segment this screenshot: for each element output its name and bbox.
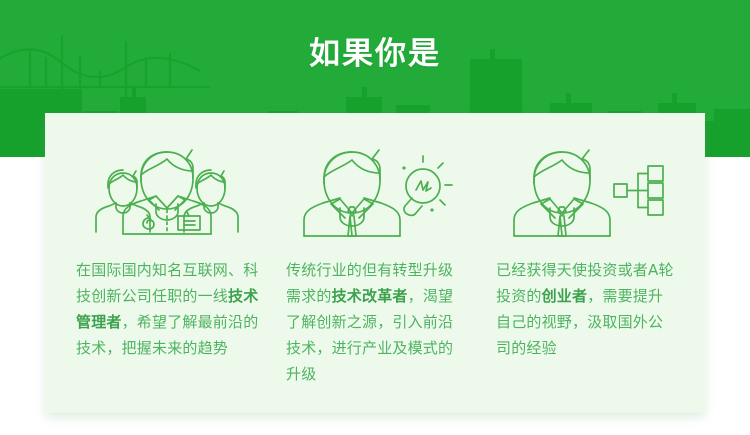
- audience-text-tech-reformer: 传统行业的但有转型升级需求的技术改革者，渴望了解创新之源，引入前沿技术，进行产业…: [282, 257, 468, 387]
- page-title: 如果你是: [0, 32, 750, 76]
- col2-text-bold: 技术改革者: [332, 287, 408, 305]
- audience-card: 在国际国内知名互联网、科技创新公司任职的一线技术管理者，希望了解最前沿的技术，把…: [45, 113, 705, 413]
- team-group-icon: [75, 141, 260, 243]
- col3-text-bold: 创业者: [542, 287, 588, 305]
- audience-text-entrepreneur: 已经获得天使投资或者A轮投资的创业者，需要提升自己的视野，汲取国外公司的经验: [490, 257, 676, 361]
- audience-text-tech-manager: 在国际国内知名互联网、科技创新公司任职的一线技术管理者，希望了解最前沿的技术，把…: [74, 257, 260, 361]
- person-lightbulb-icon: [283, 141, 468, 243]
- audience-column-tech-manager: 在国际国内知名互联网、科技创新公司任职的一线技术管理者，希望了解最前沿的技术，把…: [63, 141, 271, 361]
- audience-column-entrepreneur: 已经获得天使投资或者A轮投资的创业者，需要提升自己的视野，汲取国外公司的经验: [479, 141, 687, 361]
- audience-column-tech-reformer: 传统行业的但有转型升级需求的技术改革者，渴望了解创新之源，引入前沿技术，进行产业…: [271, 141, 479, 387]
- person-orgchart-icon: [491, 141, 676, 243]
